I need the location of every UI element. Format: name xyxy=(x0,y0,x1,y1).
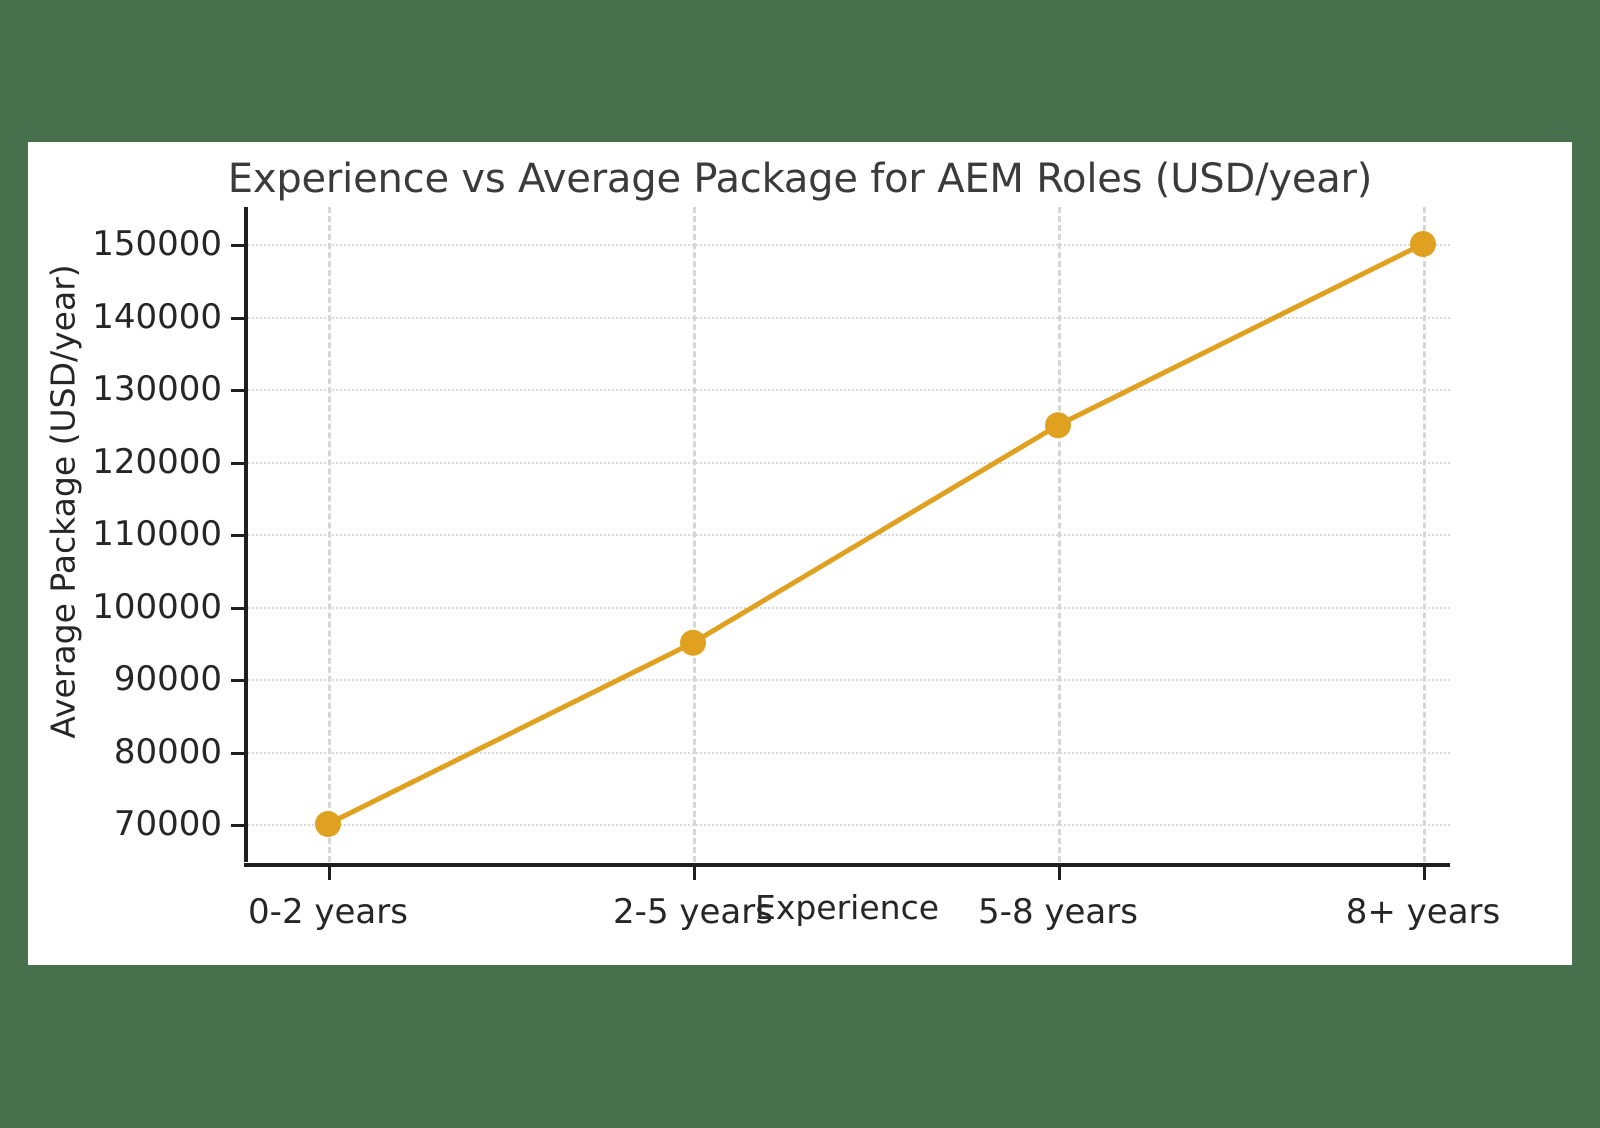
chart-title: Experience vs Average Package for AEM Ro… xyxy=(28,156,1572,202)
y-tick-mark xyxy=(231,679,244,682)
y-axis-title: Average Package (USD/year) xyxy=(44,222,83,782)
chart-figure: Experience vs Average Package for AEM Ro… xyxy=(28,142,1572,965)
y-tick-mark xyxy=(231,752,244,755)
series-polyline xyxy=(328,244,1423,824)
y-tick-mark xyxy=(231,317,244,320)
data-point-marker xyxy=(1410,231,1436,257)
x-tick-mark xyxy=(693,867,696,880)
y-tick-label: 70000 xyxy=(32,804,222,844)
data-point-marker xyxy=(680,630,706,656)
data-point-marker xyxy=(315,811,341,837)
x-axis-title: Experience xyxy=(244,888,1450,927)
y-tick-mark xyxy=(231,607,244,610)
y-tick-mark xyxy=(231,824,244,827)
x-tick-mark xyxy=(328,867,331,880)
data-point-marker xyxy=(1045,412,1071,438)
data-series-line xyxy=(244,207,1450,867)
y-tick-mark xyxy=(231,534,244,537)
x-tick-mark xyxy=(1058,867,1061,880)
y-tick-mark xyxy=(231,244,244,247)
plot-area: 150000 140000 130000 120000 110000 10000… xyxy=(244,244,1450,824)
y-tick-mark xyxy=(231,389,244,392)
y-tick-mark xyxy=(231,462,244,465)
x-tick-mark xyxy=(1423,867,1426,880)
